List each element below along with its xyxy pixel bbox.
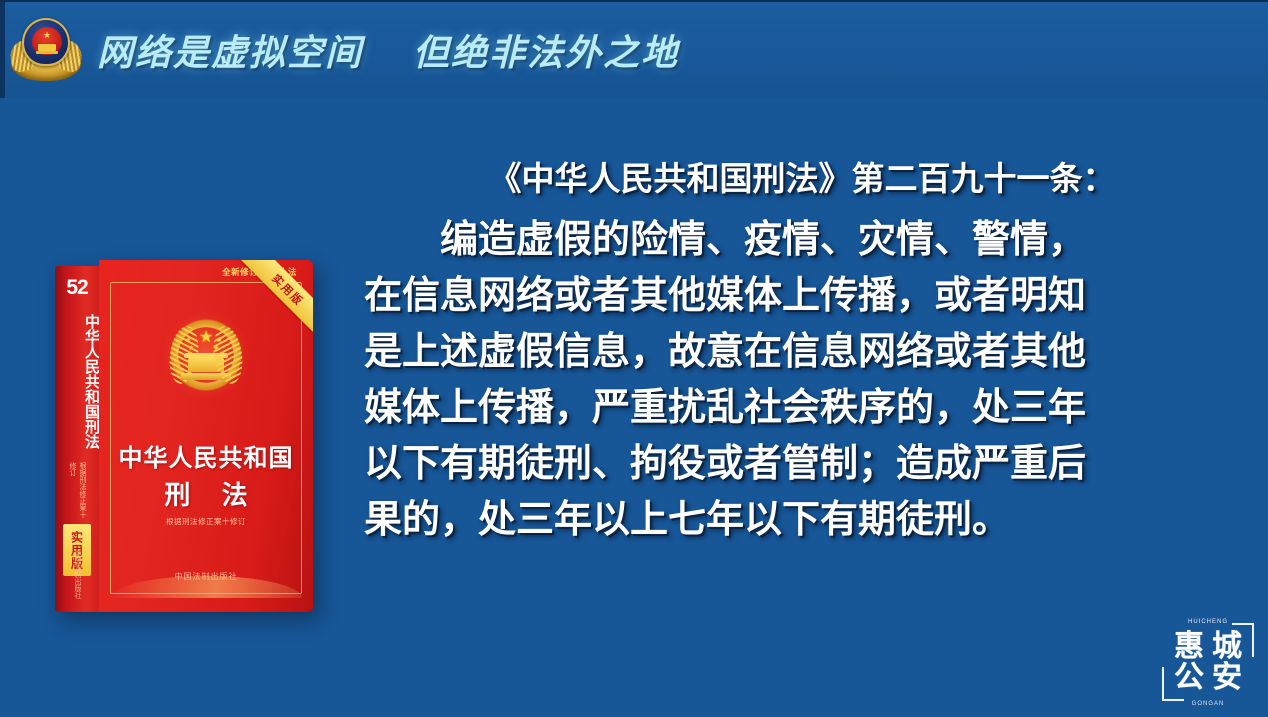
badge-gate-shape xyxy=(38,44,56,51)
header-slogan-part2: 但绝非法外之地 xyxy=(413,32,679,73)
watermark-char-2: 城 xyxy=(1208,631,1246,662)
header-slogan: 网络是虚拟空间 但绝非法外之地 xyxy=(97,24,679,76)
watermark-char-3: 公 xyxy=(1170,662,1208,693)
emblem-wheat-ring: ★ ★ ★ ★ ★ xyxy=(169,318,243,392)
police-badge-icon: ★ xyxy=(9,13,83,87)
badge-emblem-center: ★ xyxy=(32,27,62,55)
law-body-line: 果的，处三年以上七年以下有期徒刑。 xyxy=(364,492,1240,548)
law-body-line: 是上述虚假信息，故意在信息网络或者其他 xyxy=(364,324,1240,380)
watermark-char-4: 安 xyxy=(1208,662,1246,693)
watermark-char-1: 惠 xyxy=(1170,631,1208,662)
national-emblem-icon: ★ ★ ★ ★ ★ xyxy=(163,312,249,398)
book-spine: 52 中华人民共和国刑法 根据刑法修正案十修订 实用版 中国法制出版社 xyxy=(55,266,99,612)
emblem-star-small-1-icon: ★ xyxy=(185,337,191,344)
badge-shield-shape: ★ xyxy=(22,18,70,66)
criminal-law-book-image: 52 中华人民共和国刑法 根据刑法修正案十修订 实用版 中国法制出版社 全新修订… xyxy=(55,260,313,612)
header-left-accent xyxy=(0,2,5,98)
book-cover-title-line2: 刑 法 xyxy=(99,475,313,512)
book-spine-number: 52 xyxy=(55,276,99,300)
law-text-panel: 《中华人民共和国刑法》第二百九十一条： 编造虚假的险情、疫情、灾情、警情， 在信… xyxy=(364,152,1240,548)
emblem-star-big-icon: ★ xyxy=(199,330,213,346)
law-body-line: 编造虚假的险情、疫情、灾情、警情， xyxy=(364,212,1240,268)
book-cover-subtitle: 根据刑法修正案十修订 xyxy=(99,516,313,527)
header-bar: ★ 网络是虚拟空间 但绝非法外之地 xyxy=(0,2,1268,98)
law-article-title: 《中华人民共和国刑法》第二百九十一条： xyxy=(364,152,1240,200)
huicheng-police-watermark-logo: HUICHENG 惠 城 公 安 GONGAN xyxy=(1162,619,1254,705)
emblem-tiananmen-shape xyxy=(188,358,224,372)
header-slogan-part1: 网络是虚拟空间 xyxy=(97,32,363,73)
book-spine-subtitle: 根据刑法修正案十修订 xyxy=(67,462,87,520)
book-cover-title-line1: 中华人民共和国 xyxy=(99,438,313,473)
emblem-star-small-3-icon: ★ xyxy=(216,337,222,344)
watermark-characters: 惠 城 公 安 xyxy=(1170,631,1246,693)
emblem-star-small-2-icon: ★ xyxy=(188,345,194,352)
slide-canvas: ★ 网络是虚拟空间 但绝非法外之地 52 中华人民共和国刑法 根据刑法修正案十修… xyxy=(0,0,1268,717)
law-body-line: 在信息网络或者其他媒体上传播，或者明知 xyxy=(364,268,1240,324)
book-spine-publisher: 中国法制出版社 xyxy=(72,550,82,604)
watermark-pinyin-bottom: GONGAN xyxy=(1162,701,1254,707)
book-front-cover: 全新修订版 · 刑 法 实用版 ★ ★ ★ ★ ★ 中华人民共和国 刑 法 xyxy=(99,260,313,612)
emblem-star-small-4-icon: ★ xyxy=(213,345,219,352)
law-body-line: 媒体上传播，严重扰乱社会秩序的，处三年 xyxy=(364,380,1240,436)
law-body-line: 以下有期徒刑、拘役或者管制；造成严重后 xyxy=(364,436,1240,492)
book-spine-title: 中华人民共和国刑法 xyxy=(55,306,99,456)
